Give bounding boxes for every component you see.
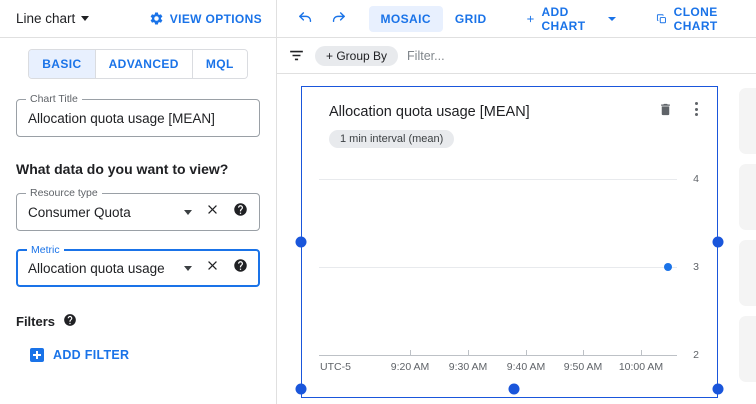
metric-value: Allocation quota usage bbox=[28, 261, 184, 276]
resize-handle-bottom-left[interactable] bbox=[296, 384, 307, 395]
config-form: Chart Title Allocation quota usage [MEAN… bbox=[0, 79, 276, 362]
config-panel-header: Line chart VIEW OPTIONS bbox=[0, 0, 276, 38]
add-filter-label: ADD FILTER bbox=[53, 348, 129, 362]
layout-mosaic-button[interactable]: MOSAIC bbox=[369, 6, 443, 32]
chart-workspace: MOSAIC GRID ADD CHART CLONE CHART + Grou… bbox=[277, 0, 756, 404]
resource-type-label: Resource type bbox=[26, 187, 102, 199]
help-icon[interactable] bbox=[63, 313, 77, 330]
resize-handle-right[interactable] bbox=[713, 237, 724, 248]
tab-mql[interactable]: MQL bbox=[193, 50, 247, 78]
chart-card-title: Allocation quota usage [MEAN] bbox=[329, 103, 701, 121]
chart-placeholder-4[interactable] bbox=[739, 316, 756, 382]
chart-canvas: Allocation quota usage [MEAN] 1 min inte… bbox=[277, 74, 756, 404]
chart-card-actions bbox=[658, 101, 703, 117]
chart-type-dropdown[interactable]: Line chart bbox=[16, 11, 89, 26]
y-tick-3: 3 bbox=[693, 261, 699, 273]
chart-card[interactable]: Allocation quota usage [MEAN] 1 min inte… bbox=[301, 86, 718, 398]
x-tick-label: 9:40 AM bbox=[507, 361, 546, 373]
chevron-down-icon bbox=[608, 17, 616, 21]
metric-icons bbox=[184, 258, 251, 278]
chart-type-label: Line chart bbox=[16, 11, 75, 26]
gridline-y-4 bbox=[319, 179, 677, 180]
metric-label: Metric bbox=[27, 244, 64, 256]
workspace-toolbar: MOSAIC GRID ADD CHART CLONE CHART bbox=[277, 0, 756, 38]
x-tick-label: 9:50 AM bbox=[564, 361, 603, 373]
plus-icon bbox=[525, 12, 536, 26]
resource-type-icons bbox=[184, 202, 251, 222]
view-options-label: VIEW OPTIONS bbox=[170, 12, 262, 26]
y-tick-2: 2 bbox=[693, 349, 699, 361]
resize-handle-bottom-right[interactable] bbox=[713, 384, 724, 395]
adjacent-charts-placeholder bbox=[734, 74, 756, 404]
add-chart-button[interactable]: ADD CHART bbox=[517, 5, 624, 33]
chevron-down-icon bbox=[81, 16, 89, 21]
x-tick-mark bbox=[468, 350, 469, 355]
x-tick-label: 9:20 AM bbox=[391, 361, 430, 373]
x-axis-line bbox=[319, 355, 677, 356]
panel-spacer bbox=[0, 362, 276, 404]
x-tick-mark bbox=[410, 350, 411, 355]
trash-icon[interactable] bbox=[658, 102, 673, 117]
chart-editor-app: Line chart VIEW OPTIONS BASIC ADVANCED M… bbox=[0, 0, 756, 404]
close-icon[interactable] bbox=[205, 258, 220, 278]
add-filter-button[interactable]: ADD FILTER bbox=[30, 348, 260, 362]
x-tick-label: 10:00 AM bbox=[619, 361, 663, 373]
filters-label: Filters bbox=[16, 314, 55, 329]
plus-icon bbox=[30, 348, 44, 362]
copy-icon bbox=[656, 12, 667, 26]
chart-card-header: Allocation quota usage [MEAN] 1 min inte… bbox=[302, 87, 717, 148]
chart-placeholder-2[interactable] bbox=[739, 164, 756, 230]
clone-chart-label: CLONE CHART bbox=[674, 5, 748, 33]
chart-plot-area: 4 3 2 UTC-5 9:20 AM 9:30 AM 9:40 AM 9:50… bbox=[302, 165, 717, 397]
filter-icon[interactable] bbox=[287, 46, 306, 65]
group-by-chip[interactable]: + Group By bbox=[315, 46, 398, 66]
chevron-down-icon[interactable] bbox=[184, 210, 192, 215]
chart-title-value: Allocation quota usage [MEAN] bbox=[28, 111, 251, 126]
clone-chart-button[interactable]: CLONE CHART bbox=[648, 5, 756, 33]
data-point[interactable] bbox=[664, 263, 672, 271]
view-options-button[interactable]: VIEW OPTIONS bbox=[149, 11, 262, 26]
filter-bar: + Group By Filter... bbox=[277, 38, 756, 74]
tab-advanced[interactable]: ADVANCED bbox=[96, 50, 193, 78]
layout-grid-button[interactable]: GRID bbox=[443, 6, 499, 32]
chevron-down-icon[interactable] bbox=[184, 266, 192, 271]
close-icon[interactable] bbox=[205, 202, 220, 222]
filters-section-heading: Filters bbox=[16, 313, 260, 330]
gridline-y-3 bbox=[319, 267, 677, 268]
help-icon[interactable] bbox=[233, 202, 248, 222]
resource-type-field[interactable]: Resource type Consumer Quota bbox=[16, 193, 260, 231]
x-tick-label: 9:30 AM bbox=[449, 361, 488, 373]
config-tabs: BASIC ADVANCED MQL bbox=[0, 38, 276, 79]
resize-handle-left[interactable] bbox=[296, 237, 307, 248]
undo-button[interactable] bbox=[293, 4, 318, 34]
gear-icon bbox=[149, 11, 164, 26]
x-tick-mark bbox=[641, 350, 642, 355]
metric-field[interactable]: Metric Allocation quota usage bbox=[16, 249, 260, 287]
interval-badge: 1 min interval (mean) bbox=[329, 130, 454, 148]
tab-group: BASIC ADVANCED MQL bbox=[28, 49, 248, 79]
x-tick-mark bbox=[583, 350, 584, 355]
chart-config-panel: Line chart VIEW OPTIONS BASIC ADVANCED M… bbox=[0, 0, 277, 404]
add-chart-label: ADD CHART bbox=[541, 5, 599, 33]
chart-placeholder-1[interactable] bbox=[739, 88, 756, 154]
timezone-label: UTC-5 bbox=[320, 361, 351, 373]
chart-placeholder-3[interactable] bbox=[739, 240, 756, 306]
tab-basic[interactable]: BASIC bbox=[29, 50, 95, 78]
y-tick-4: 4 bbox=[693, 173, 699, 185]
chart-title-label: Chart Title bbox=[26, 93, 82, 105]
filter-input[interactable]: Filter... bbox=[407, 49, 756, 63]
kebab-menu-icon[interactable] bbox=[689, 101, 703, 117]
x-tick-mark bbox=[526, 350, 527, 355]
help-icon[interactable] bbox=[233, 258, 248, 278]
data-section-heading: What data do you want to view? bbox=[16, 161, 260, 177]
resource-type-value: Consumer Quota bbox=[28, 205, 184, 220]
redo-button[interactable] bbox=[326, 4, 351, 34]
resize-handle-bottom-center[interactable] bbox=[509, 384, 520, 395]
chart-title-field[interactable]: Chart Title Allocation quota usage [MEAN… bbox=[16, 99, 260, 137]
